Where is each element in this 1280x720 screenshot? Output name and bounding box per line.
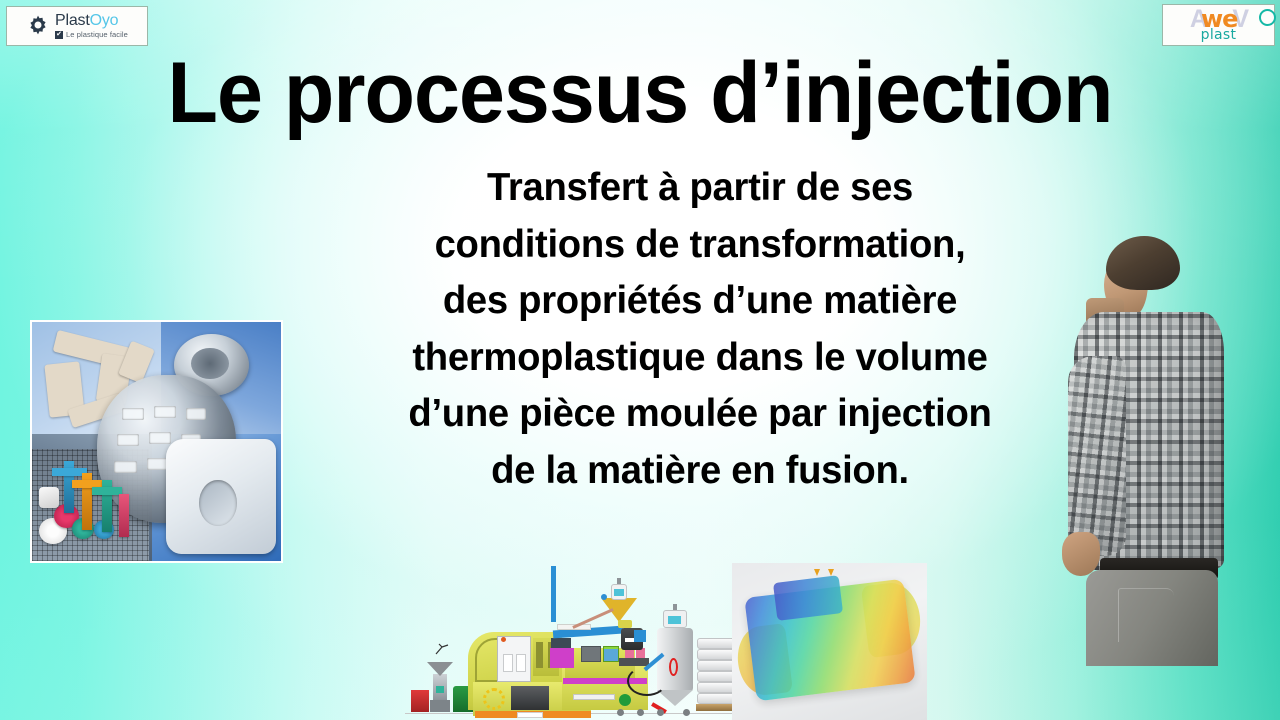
sensor-dot [601,594,607,600]
page-title: Le processus d’injection [26,48,1255,138]
body-line: Transfert à partir de ses [328,160,1073,217]
granule-bag [697,649,735,660]
rotary-wheel [483,688,505,710]
silo-cone [657,690,693,706]
circle-icon [1259,9,1276,26]
loader-window [614,589,624,596]
silo-window [668,616,681,624]
white-cylinder [39,487,59,509]
barrel-base [619,658,649,666]
panel-screen [516,654,526,672]
body-line: de la matière en fusion. [328,443,1073,500]
nozzle-block [551,638,571,648]
green-indicator [619,694,631,706]
body-line: conditions de transformation, [328,217,1073,274]
white-housing-part [166,439,276,554]
magenta-block [550,648,574,668]
plaid-shirt-arm [1068,356,1126,556]
operator-photo [1060,236,1236,666]
slide-canvas: PlastOyo ✔ Le plastique facile A we V pl… [0,0,1280,720]
mold-slot [117,434,139,446]
tie-bar [536,642,543,668]
awev-letters-we: we [1201,7,1237,31]
status-light [501,637,506,642]
hair [1106,236,1180,290]
pants-pocket [1118,588,1174,642]
granule-bag [697,693,735,704]
red-bin [411,690,429,712]
body-line: thermoplastique dans le volume [328,330,1073,387]
mold-slot [154,406,176,418]
switch-row [573,694,615,700]
body-line: des propriétés d’une matière [328,273,1073,330]
plastoyo-logo[interactable]: PlastOyo ✔ Le plastique facile [6,6,148,46]
mold-slot [122,408,144,420]
injection-point-arrow-icon [828,569,834,576]
mold-slot [114,461,136,473]
grinder-base [430,700,450,712]
ring-hub [191,348,228,379]
panel-screen [503,654,513,672]
caster-wheel [617,709,624,716]
mold-slot [186,408,206,420]
green-runner [92,487,122,495]
body-line: d’une pièce moulée par injection [328,386,1073,443]
robot-arm-icon [435,642,451,654]
moldflow-simulation-image [732,563,927,720]
chute-tray [517,712,543,718]
grinder-funnel [427,662,453,676]
granule-bag [697,682,735,693]
pink-sprue [119,494,129,537]
display-glass [604,649,618,661]
blue-box [634,630,646,642]
logo-tagline: Le plastique facile [66,31,128,39]
loader-cap [617,578,621,584]
checkbox-icon: ✔ [55,31,63,39]
hopper-outlet [618,620,632,628]
grinder-window [436,686,444,693]
injection-machine-illustration [405,558,735,720]
logo-name-primary: Plast [55,12,90,29]
part-chute [511,686,549,710]
caster-wheel [657,709,664,716]
mold-slot [149,432,171,444]
granule-bag [697,638,735,649]
slide-body-text: Transfert à partir de ses conditions de … [328,160,1073,499]
awev-plast-logo[interactable]: A we V plast [1162,4,1275,46]
gear-icon [26,14,50,38]
granule-bag [697,671,735,682]
silo-cap [673,604,677,610]
caster-wheel [637,709,644,716]
blue-column [551,566,556,622]
part-top-boss [773,575,843,620]
injection-point-arrow-icon [814,569,820,576]
plastic-parts-photo [30,320,283,563]
caster-wheel [683,709,690,716]
hose-loop [627,666,667,696]
granule-bag [697,660,735,671]
hand [1062,532,1100,576]
heater-band [581,646,601,662]
pallet [696,704,736,711]
logo-name-secondary: Oyo [90,12,119,29]
silo-marking [669,658,678,676]
